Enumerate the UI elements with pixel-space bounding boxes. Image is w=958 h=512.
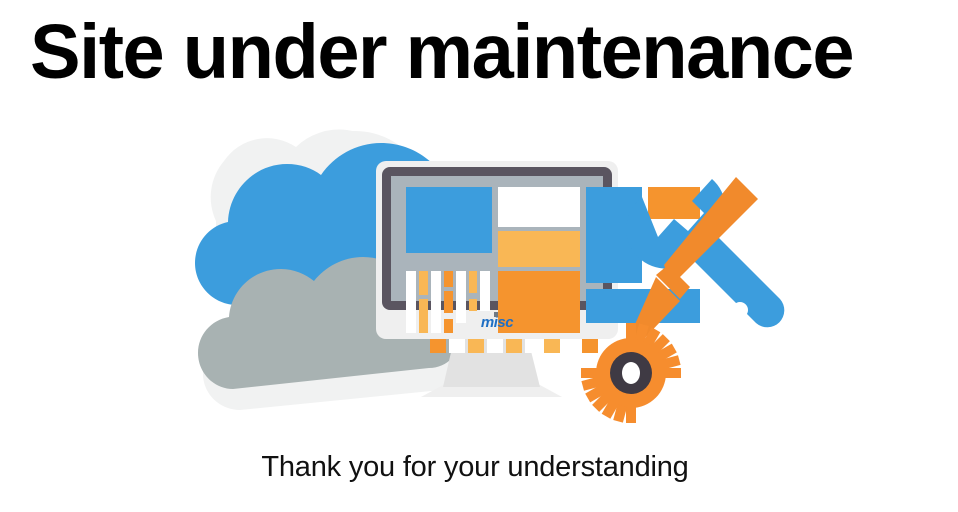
bar-6-b xyxy=(469,299,477,311)
bar-2-a xyxy=(419,271,428,295)
bar-3 xyxy=(431,271,441,333)
bar-2-b xyxy=(419,299,428,333)
block-blue-large xyxy=(406,187,492,253)
legend-swatch-6 xyxy=(525,339,541,353)
legend-swatch-3 xyxy=(468,339,484,353)
page-title: Site under maintenance xyxy=(30,6,917,98)
legend-swatch-4 xyxy=(487,339,503,353)
bar-1 xyxy=(406,271,416,333)
caption-text: Thank you for your understanding xyxy=(261,447,688,487)
legend-swatch-8 xyxy=(563,339,579,353)
legend-swatch-2 xyxy=(449,339,465,353)
block-light-orange xyxy=(498,231,580,267)
legend-swatch-1 xyxy=(430,339,446,353)
bar-5 xyxy=(456,271,466,323)
bar-4-b xyxy=(444,291,453,313)
legend-swatch-7 xyxy=(544,339,560,353)
maintenance-page: Site under maintenance xyxy=(0,0,958,512)
bar-4-a xyxy=(444,271,453,287)
block-orange-topright xyxy=(648,187,700,219)
bar-7 xyxy=(480,271,490,311)
legend-swatch-9 xyxy=(582,339,598,353)
site-maintenance-illustration: misc xyxy=(0,105,958,435)
legend-swatch-5 xyxy=(506,339,522,353)
block-white-top xyxy=(498,187,580,227)
bar-6-a xyxy=(469,271,477,293)
bar-4-c xyxy=(444,319,453,333)
dashboard-legend-strip xyxy=(430,339,598,353)
monitor-brand-logo: misc xyxy=(481,312,514,331)
caption: Thank you for your understanding xyxy=(0,447,958,487)
